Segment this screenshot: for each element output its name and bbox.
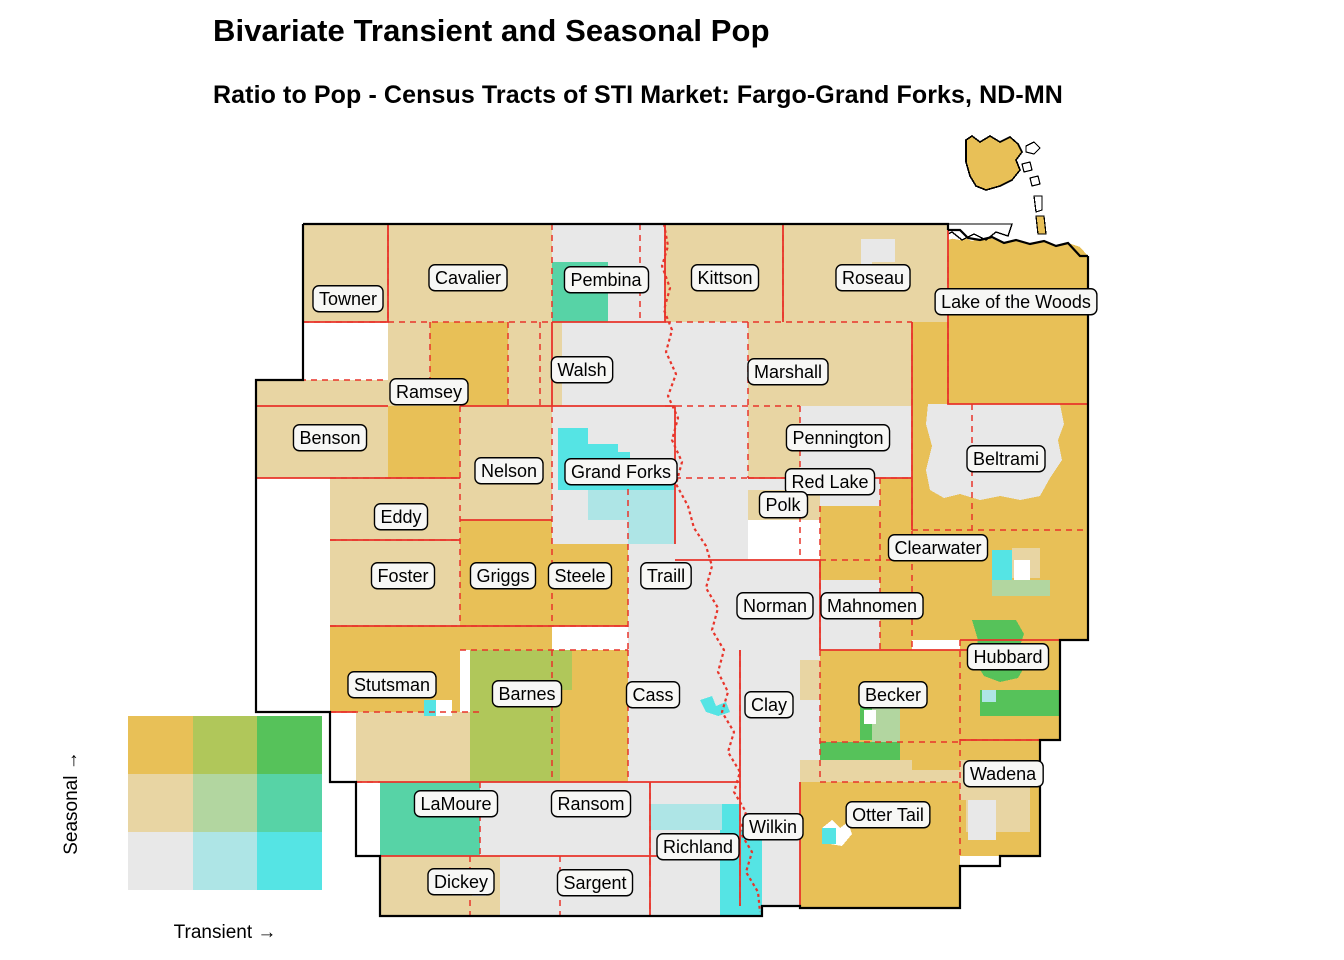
county-label-text: Mahnomen — [827, 596, 917, 616]
county-label-clearwater: Clearwater — [888, 535, 987, 561]
county-shape-benson — [256, 380, 388, 478]
county-label-cavalier: Cavalier — [429, 265, 507, 291]
county-shape-towner — [303, 224, 388, 322]
county-shape-wilkin — [740, 782, 800, 906]
county-shape-foster — [330, 540, 460, 626]
county-shape-wadena-base — [960, 740, 1040, 856]
county-label-text: Grand Forks — [571, 462, 671, 482]
tract-marshall-w — [665, 322, 748, 406]
county-shape-clearwater — [912, 530, 1088, 640]
legend-grid — [128, 716, 322, 890]
county-shape-cass — [628, 650, 740, 782]
tract-parkrapids — [982, 690, 996, 702]
county-label-barnes: Barnes — [492, 681, 561, 707]
angle-islet-4 — [1034, 196, 1042, 212]
red-river-state-line — [662, 224, 760, 912]
tract-barnes-e — [560, 650, 628, 782]
county-label-red-lake: Red Lake — [785, 469, 874, 495]
county-label-text: Griggs — [476, 566, 529, 586]
tract-clearwater-green — [992, 580, 1050, 596]
county-label-text: Towner — [319, 289, 377, 309]
clearwater-lake — [1014, 560, 1030, 582]
county-shape-norman — [740, 560, 820, 650]
legend-cell-low-seasonal-mid-transient — [193, 832, 258, 890]
county-polygons — [256, 136, 1088, 916]
tract-richland-cyan-n — [722, 804, 740, 856]
county-label-box — [964, 761, 1043, 787]
county-shape-ramsey-south — [388, 406, 460, 478]
tract-polk-crookston — [748, 490, 820, 520]
county-label-text: Beltrami — [973, 449, 1039, 469]
county-label-box — [657, 834, 739, 860]
county-label-text: Roseau — [842, 268, 904, 288]
county-label-text: Wilkin — [749, 817, 797, 837]
county-label-box — [836, 265, 910, 291]
county-label-box — [743, 814, 803, 840]
tract-wadena-tan-2 — [966, 796, 1030, 832]
legend-cell-high-seasonal-low-transient — [128, 716, 193, 774]
study-area-outline — [256, 224, 1088, 916]
county-label-foster: Foster — [371, 563, 434, 589]
county-label-text: Stutsman — [354, 675, 430, 695]
tract-beltrami-gray — [926, 404, 1064, 500]
tract-ramsey-e — [508, 322, 552, 406]
county-label-stutsman: Stutsman — [348, 672, 436, 698]
tract-clay-e — [800, 660, 820, 700]
county-label-box — [313, 286, 383, 312]
tract-filler-1 — [892, 760, 912, 772]
county-label-text: Traill — [647, 566, 685, 586]
county-label-text: Walsh — [557, 360, 606, 380]
legend-cell-low-seasonal-high-transient — [257, 832, 322, 890]
tract-polk-e — [820, 506, 880, 580]
county-label-text: Foster — [377, 566, 428, 586]
county-label-text: Nelson — [481, 461, 537, 481]
county-label-box — [748, 359, 828, 385]
devils-lake-water — [396, 418, 414, 436]
county-label-richland: Richland — [657, 834, 739, 860]
county-shape-red-lake — [748, 478, 912, 512]
jamestown-water — [436, 700, 452, 716]
county-label-beltrami: Beltrami — [967, 446, 1045, 472]
ottertail-lakes — [822, 820, 852, 846]
county-label-cass: Cass — [626, 682, 679, 708]
tract-clearwater-bagley — [992, 550, 1012, 584]
county-label-text: Barnes — [498, 684, 555, 704]
county-label-text: LaMoure — [420, 794, 491, 814]
county-label-walsh: Walsh — [551, 357, 612, 383]
tract-devils-lake-city — [410, 424, 420, 436]
county-label-text: Pennington — [792, 428, 883, 448]
county-shape-stutsman-n — [330, 626, 460, 712]
legend-y-axis: Seasonal → — [84, 716, 114, 890]
county-shape-otter-tail — [800, 782, 960, 908]
county-label-text: Cavalier — [435, 268, 501, 288]
county-shape-ramsey — [388, 322, 552, 406]
county-label-polk: Polk — [759, 492, 807, 518]
county-label-box — [348, 672, 436, 698]
county-label-box — [390, 379, 468, 405]
tract-dickey-e — [500, 856, 560, 916]
county-label-nelson: Nelson — [475, 458, 543, 484]
county-label-box — [564, 267, 648, 293]
map-figure: Bivariate Transient and Seasonal Pop Rat… — [0, 0, 1344, 960]
county-shape-hubbard-base — [960, 640, 1060, 740]
county-label-text: Steele — [554, 566, 605, 586]
county-label-clay: Clay — [745, 692, 793, 718]
county-shape-eddy — [330, 478, 460, 540]
county-shape-walsh — [552, 322, 665, 406]
tract-walsh-w — [540, 322, 562, 406]
county-label-text: Marshall — [754, 362, 822, 382]
county-label-towner: Towner — [313, 286, 383, 312]
tract-barnes-valleycity — [528, 650, 572, 690]
angle-islet-2 — [1022, 162, 1032, 172]
county-shape-becker — [820, 650, 960, 782]
county-label-eddy: Eddy — [374, 504, 427, 530]
angle-islet-1 — [1026, 142, 1040, 154]
tract-grandforks-suburb — [588, 490, 675, 544]
county-label-text: Red Lake — [791, 472, 868, 492]
county-shape-barnes — [470, 650, 560, 782]
county-label-box — [821, 593, 923, 619]
county-label-box — [691, 265, 758, 291]
tract-polk-far-e — [880, 478, 912, 580]
tract-grandforks-city-2 — [588, 460, 675, 500]
county-label-text: Benson — [299, 428, 360, 448]
tract-clearwater-tan — [1012, 548, 1040, 578]
tract-thief-river-falls — [855, 428, 868, 444]
county-label-text: Becker — [865, 685, 921, 705]
county-label-traill: Traill — [641, 563, 691, 589]
tract-roseau-low — [861, 239, 895, 271]
tract-marshall-se — [748, 406, 800, 478]
county-label-box — [846, 802, 930, 828]
tract-richland-mid — [650, 830, 722, 856]
tract-boundaries — [256, 224, 1088, 916]
county-label-box — [551, 791, 630, 817]
county-shape-lake-of-the-woods — [948, 230, 1088, 404]
county-label-text: Norman — [743, 596, 807, 616]
county-label-ransom: Ransom — [551, 791, 630, 817]
legend-cell-mid-seasonal-mid-transient — [193, 774, 258, 832]
county-label-lake-of-the-woods: Lake of the Woods — [935, 289, 1097, 315]
county-label-marshall: Marshall — [748, 359, 828, 385]
county-shape-sargent — [560, 856, 650, 916]
page-subtitle: Ratio to Pop - Census Tracts of STI Mark… — [213, 80, 1313, 111]
tract-wadena-tan — [960, 760, 1030, 800]
county-shape-ransom — [480, 782, 650, 856]
county-shape-clay — [740, 650, 820, 782]
county-label-box — [785, 469, 874, 495]
tract-dickey-small — [472, 884, 486, 896]
tract-jamestown — [424, 700, 440, 716]
legend-cell-high-seasonal-mid-transient — [193, 716, 258, 774]
county-label-norman: Norman — [737, 593, 813, 619]
tract-becker-green — [860, 700, 880, 740]
tract-richland-cyan-s — [720, 830, 762, 916]
tract-mahnomen-e — [880, 580, 912, 650]
county-label-text: Pembina — [570, 270, 642, 290]
tract-traill-n — [552, 520, 628, 544]
county-label-text: Dickey — [434, 872, 488, 892]
county-shape-steele — [552, 544, 628, 626]
county-label-box — [414, 791, 497, 817]
tract-richland-wahpeton-n2 — [700, 804, 722, 830]
county-label-box — [565, 459, 677, 485]
county-shape-traill — [628, 544, 740, 650]
county-shape-richland-n — [650, 782, 740, 856]
county-label-box — [641, 563, 691, 589]
county-label-box — [428, 869, 494, 895]
county-label-wilkin: Wilkin — [743, 814, 803, 840]
northwest-angle-island — [966, 136, 1022, 190]
county-shape-nelson — [460, 406, 552, 520]
county-shape-mahnomen — [820, 580, 912, 650]
county-label-box — [470, 563, 535, 589]
tract-richland-s — [650, 856, 720, 916]
lake-bay — [948, 224, 1012, 240]
county-label-box — [548, 563, 611, 589]
county-shape-kittson — [665, 224, 783, 322]
county-label-box — [745, 692, 793, 718]
county-label-box — [371, 563, 434, 589]
detroit-lakes-water — [864, 710, 876, 724]
legend-cell-mid-seasonal-low-transient — [128, 774, 193, 832]
county-label-text: Hubbard — [973, 647, 1042, 667]
county-label-box — [967, 446, 1045, 472]
county-shape-roseau — [783, 224, 948, 322]
lake-cut — [948, 224, 1010, 241]
county-label-box — [293, 425, 366, 451]
county-label-pennington: Pennington — [786, 425, 889, 451]
tract-barnes-n — [460, 626, 552, 650]
county-label-text: Sargent — [563, 873, 626, 893]
county-shape-stutsman-s — [356, 712, 480, 782]
county-label-box — [374, 504, 427, 530]
county-label-box — [626, 682, 679, 708]
county-shape-grand-forks — [552, 406, 675, 544]
county-label-text: Clearwater — [894, 538, 981, 558]
county-label-steele: Steele — [548, 563, 611, 589]
county-label-benson: Benson — [293, 425, 366, 451]
county-label-sargent: Sargent — [557, 870, 632, 896]
county-label-text: Otter Tail — [852, 805, 924, 825]
county-label-text: Cass — [632, 685, 673, 705]
county-label-ramsey: Ramsey — [390, 379, 468, 405]
county-label-box — [475, 458, 543, 484]
legend-x-axis-label: Transient → — [128, 922, 322, 944]
tract-richland-wahpeton-n — [650, 804, 700, 830]
county-label-grand-forks: Grand Forks — [565, 459, 677, 485]
county-shape-marshall — [748, 322, 912, 406]
tract-fargo-moorhead-core — [700, 696, 730, 716]
county-shape-griggs — [460, 520, 552, 626]
county-label-text: Ramsey — [396, 382, 462, 402]
county-label-box — [737, 593, 813, 619]
county-label-text: Eddy — [380, 507, 421, 527]
county-shape-beltrami-n — [912, 322, 1088, 404]
county-label-roseau: Roseau — [836, 265, 910, 291]
tract-wadena-gray — [968, 800, 996, 840]
county-shape-cavalier — [388, 224, 552, 322]
county-label-pembina: Pembina — [564, 267, 648, 293]
tract-becker-detroitlakes — [872, 706, 900, 742]
county-label-text: Richland — [663, 837, 733, 857]
tract-becker-s-green — [820, 742, 900, 764]
legend-cell-high-seasonal-high-transient — [257, 716, 322, 774]
county-label-text: Kittson — [697, 268, 752, 288]
county-shape-pennington — [800, 406, 912, 478]
county-label-text: Clay — [751, 695, 787, 715]
county-label-box — [786, 425, 889, 451]
tract-ramsey-w — [388, 322, 430, 406]
county-label-box — [557, 870, 632, 896]
county-label-box — [888, 535, 987, 561]
county-label-otter-tail: Otter Tail — [846, 802, 930, 828]
county-label-text: Lake of the Woods — [941, 292, 1091, 312]
county-label-becker: Becker — [859, 682, 927, 708]
county-label-box — [759, 492, 807, 518]
page-title: Bivariate Transient and Seasonal Pop — [213, 12, 1313, 51]
tract-hubbard-green-2 — [980, 690, 1060, 716]
legend-cell-low-seasonal-low-transient — [128, 832, 193, 890]
county-shape-dickey — [380, 856, 520, 916]
county-label-box — [967, 644, 1048, 670]
county-shape-beltrami-body — [912, 404, 1088, 530]
tract-marshall-s — [665, 406, 748, 478]
county-shape-lamoure — [380, 782, 480, 856]
tract-ottertail-tan-band — [800, 770, 1000, 790]
county-shape-pembina — [552, 224, 665, 322]
county-label-box — [429, 265, 507, 291]
county-label-hubbard: Hubbard — [967, 644, 1048, 670]
angle-islet-5 — [1036, 216, 1046, 234]
county-label-text: Polk — [765, 495, 801, 515]
tract-pembina-high-seasonal — [552, 262, 608, 322]
county-label-wadena: Wadena — [964, 761, 1043, 787]
county-label-box — [859, 682, 927, 708]
tract-polk-w — [675, 478, 748, 560]
county-label-lamoure: LaMoure — [414, 791, 497, 817]
tract-ottertail-n-tan — [800, 760, 900, 790]
county-labels: TownerCavalierPembinaKittsonRoseauLake o… — [293, 265, 1096, 896]
title-block: Bivariate Transient and Seasonal Pop Rat… — [213, 12, 1313, 111]
lake-cut-2 — [948, 224, 970, 240]
county-label-griggs: Griggs — [470, 563, 535, 589]
angle-islet-3 — [1030, 176, 1040, 186]
county-label-dickey: Dickey — [428, 869, 494, 895]
bivariate-legend — [128, 716, 322, 890]
tract-grandforks-city — [558, 428, 630, 490]
county-label-box — [492, 681, 561, 707]
county-boundaries — [256, 224, 1088, 916]
legend-cell-mid-seasonal-high-transient — [257, 774, 322, 832]
county-label-text: Wadena — [970, 764, 1037, 784]
county-label-mahnomen: Mahnomen — [821, 593, 923, 619]
county-label-box — [935, 289, 1097, 315]
legend-y-axis-label: Seasonal → — [60, 716, 84, 890]
tract-hubbard-green — [972, 620, 1026, 682]
county-label-box — [551, 357, 612, 383]
county-label-kittson: Kittson — [691, 265, 758, 291]
tract-ottertail-fergusfalls — [822, 828, 836, 844]
county-label-text: Ransom — [557, 794, 624, 814]
